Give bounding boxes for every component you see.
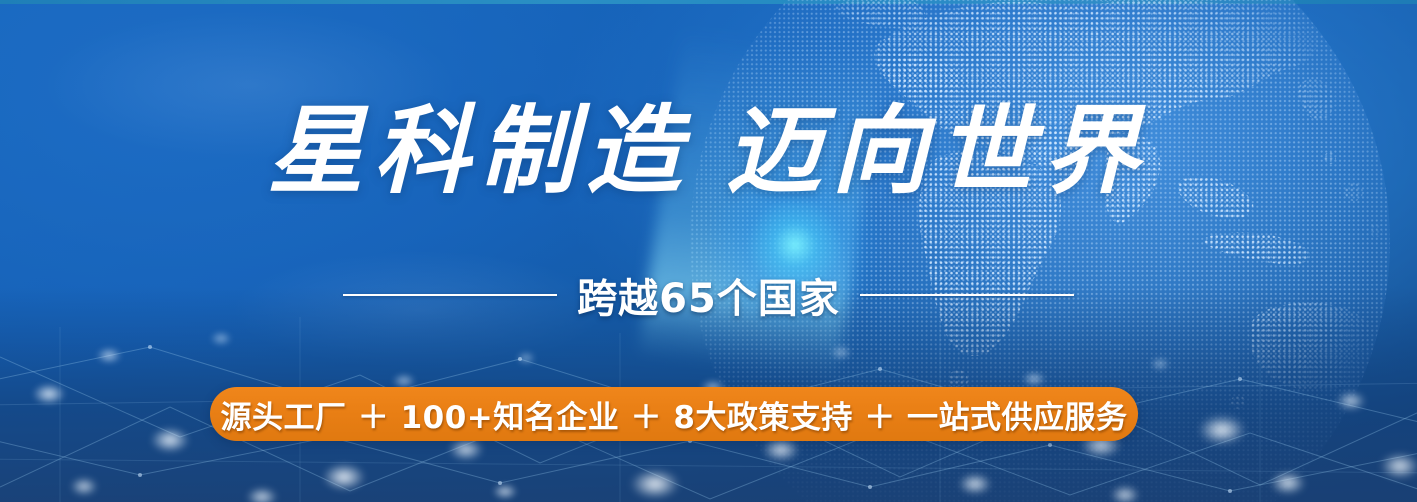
features-pill-label: 源头工厂 ＋ 100+知名企业 ＋ 8大政策支持 ＋ 一站式供应服务 bbox=[220, 392, 1127, 437]
subtitle-rule-left bbox=[343, 294, 557, 296]
subtitle-text: 跨越65个国家 bbox=[577, 266, 840, 324]
banner-subtitle-row: 跨越65个国家 bbox=[0, 264, 1417, 326]
features-pill-banner[interactable]: 源头工厂 ＋ 100+知名企业 ＋ 8大政策支持 ＋ 一站式供应服务 bbox=[210, 387, 1138, 441]
headline-part-1: 星科制造 bbox=[268, 98, 692, 205]
headline-part-2: 迈向世界 bbox=[726, 98, 1150, 205]
banner-headline: 星科制造迈向世界 bbox=[0, 104, 1417, 200]
promotional-banner: 星科制造迈向世界 跨越65个国家 源头工厂 ＋ 100+知名企业 ＋ 8大政策支… bbox=[0, 0, 1417, 502]
subtitle-rule-right bbox=[860, 294, 1074, 296]
